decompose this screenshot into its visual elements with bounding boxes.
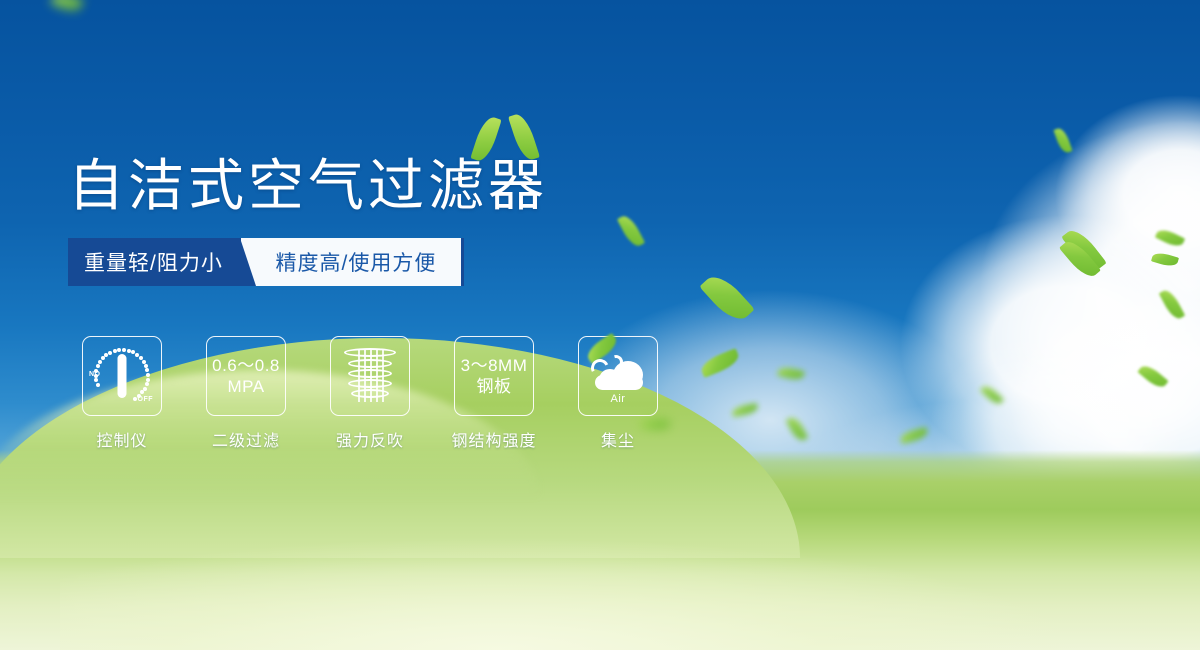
cloud-horizon bbox=[300, 470, 600, 630]
leaf-icon bbox=[786, 415, 809, 444]
gauge-tick bbox=[127, 349, 131, 353]
gauge-tick bbox=[145, 382, 149, 386]
cloud-horizon bbox=[200, 505, 420, 625]
steel-thickness: 3～8MM bbox=[461, 355, 528, 376]
coil-filter-icon bbox=[342, 346, 398, 406]
feature-label: 集尘 bbox=[601, 427, 635, 451]
leaf-icon bbox=[1061, 225, 1106, 275]
gauge-tick bbox=[96, 364, 100, 368]
gauge-icon: NO OFF bbox=[89, 345, 155, 407]
feature-list: NO OFF 控制仪 0.6～0.8 MPA 二级过滤 bbox=[82, 336, 658, 451]
gauge-tick bbox=[146, 373, 150, 377]
page-title: 自洁式空气过滤器 bbox=[68, 141, 548, 222]
feature-label: 钢结构强度 bbox=[452, 427, 537, 451]
cloud-right bbox=[980, 120, 1200, 450]
steel-plate-text-icon: 3～8MM 钢板 bbox=[461, 355, 528, 397]
sky-haze bbox=[760, 400, 1200, 620]
feature-label: 强力反吹 bbox=[336, 427, 404, 451]
gauge-tick bbox=[113, 349, 117, 353]
gauge-tick bbox=[140, 390, 144, 394]
leaf-icon bbox=[1159, 287, 1186, 321]
leaf-icon bbox=[731, 403, 758, 417]
gauge-tick bbox=[137, 394, 141, 398]
gauge-tick bbox=[108, 351, 112, 355]
steel-material: 钢板 bbox=[461, 376, 528, 397]
cloud-right bbox=[900, 215, 1200, 475]
gauge-tick bbox=[96, 383, 100, 387]
cloud-left bbox=[60, 455, 320, 635]
leaf-icon bbox=[980, 383, 1004, 407]
feature-box: NO OFF bbox=[82, 336, 162, 416]
leaf-icon bbox=[1155, 226, 1185, 249]
leaf-icon bbox=[617, 213, 645, 250]
gauge-tick bbox=[101, 356, 105, 360]
subtitle-right-segment: 精度高/使用方便 bbox=[241, 238, 464, 286]
gauge-needle bbox=[118, 354, 127, 398]
subtitle-left-segment: 重量轻/阻力小 bbox=[68, 238, 241, 286]
gauge-tick bbox=[144, 364, 148, 368]
gauge-tick bbox=[133, 397, 137, 401]
feature-item-dust[interactable]: Air 集尘 bbox=[578, 336, 658, 451]
feature-box: 0.6～0.8 MPA bbox=[206, 336, 286, 416]
cloud-air-icon: Air bbox=[587, 349, 649, 403]
leaf-icon bbox=[698, 348, 741, 378]
pressure-unit: MPA bbox=[212, 376, 280, 397]
feature-box: Air bbox=[578, 336, 658, 416]
leaf-icon bbox=[1151, 251, 1179, 269]
feature-item-filtration[interactable]: 0.6～0.8 MPA 二级过滤 bbox=[206, 336, 286, 451]
leaf-icon bbox=[1137, 362, 1168, 391]
gauge-tick bbox=[145, 368, 149, 372]
gauge-tick bbox=[98, 360, 102, 364]
cloud-horizon bbox=[430, 500, 680, 630]
gauge-tick bbox=[122, 348, 126, 352]
pressure-range: 0.6～0.8 bbox=[212, 355, 280, 376]
leaf-icon bbox=[1061, 225, 1106, 275]
cloud-left bbox=[0, 430, 270, 650]
leaf-icon bbox=[899, 427, 929, 444]
grass-field bbox=[0, 450, 1200, 650]
gauge-tick bbox=[94, 374, 98, 378]
feature-box bbox=[330, 336, 410, 416]
air-label: Air bbox=[587, 393, 649, 405]
leaf-icon bbox=[777, 365, 805, 382]
subtitle-banner: 重量轻/阻力小 精度高/使用方便 bbox=[68, 238, 464, 286]
gauge-tick bbox=[117, 348, 121, 352]
feature-item-steel[interactable]: 3～8MM 钢板 钢结构强度 bbox=[454, 336, 534, 451]
feature-box: 3～8MM 钢板 bbox=[454, 336, 534, 416]
cloud-horizon bbox=[640, 485, 920, 635]
feature-label: 二级过滤 bbox=[212, 427, 280, 451]
product-hero-banner: 自洁式空气过滤器 重量轻/阻力小 精度高/使用方便 NO OFF 控制仪 0.6… bbox=[0, 0, 1200, 650]
cloud-right bbox=[1055, 95, 1200, 295]
cloud-right bbox=[930, 330, 1190, 520]
leaf-icon bbox=[50, 0, 84, 15]
leaf-icon bbox=[1059, 236, 1101, 281]
grass-path bbox=[60, 510, 1100, 650]
cloud-right bbox=[1010, 290, 1200, 520]
feature-item-backblow[interactable]: 强力反吹 bbox=[330, 336, 410, 451]
cloud-left bbox=[0, 480, 150, 650]
feature-label: 控制仪 bbox=[96, 427, 147, 451]
cloud-horizon bbox=[1000, 495, 1200, 635]
gauge-tick bbox=[146, 378, 150, 382]
feature-item-control[interactable]: NO OFF 控制仪 bbox=[82, 336, 162, 451]
gauge-tick bbox=[94, 378, 98, 382]
cloud-horizon bbox=[800, 500, 1100, 640]
leaf-icon bbox=[699, 269, 754, 327]
leaf-icon bbox=[1053, 126, 1072, 154]
pressure-text-icon: 0.6～0.8 MPA bbox=[212, 355, 280, 397]
